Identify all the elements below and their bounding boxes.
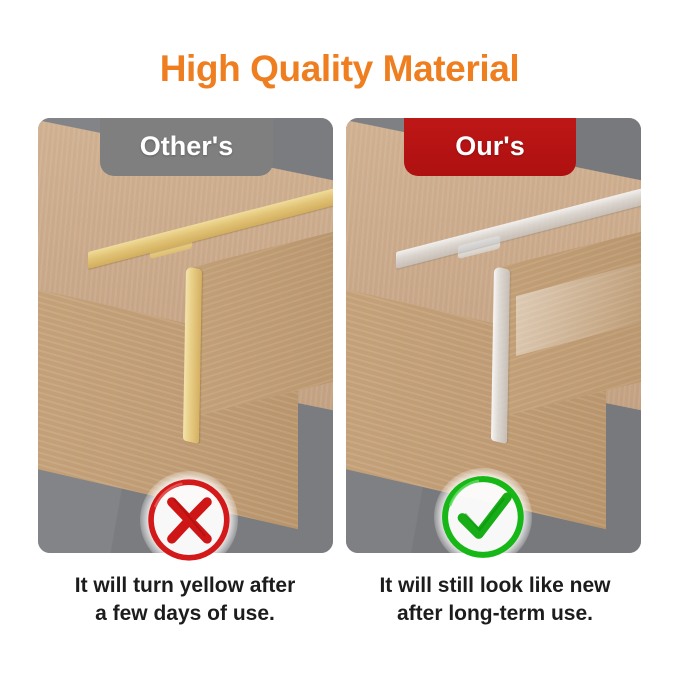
caption-other-line2: a few days of use. bbox=[25, 600, 345, 628]
check-mark-icon bbox=[440, 474, 526, 560]
product-comparison-image: High Quality Material Other's It will tu… bbox=[0, 0, 679, 679]
caption-other-line1: It will turn yellow after bbox=[25, 572, 345, 600]
caption-ours-line2: after long-term use. bbox=[335, 600, 655, 628]
page-title: High Quality Material bbox=[0, 48, 679, 90]
caption-ours-line1: It will still look like new bbox=[335, 572, 655, 600]
badge-others: Other's bbox=[100, 118, 273, 176]
x-mark-icon bbox=[146, 477, 232, 563]
caption-other: It will turn yellow after a few days of … bbox=[25, 572, 345, 627]
edge-guard-corner-strip-left bbox=[183, 266, 202, 444]
edge-guard-corner-strip-right bbox=[491, 266, 510, 444]
caption-ours: It will still look like new after long-t… bbox=[335, 572, 655, 627]
badge-ours: Our's bbox=[404, 118, 576, 176]
